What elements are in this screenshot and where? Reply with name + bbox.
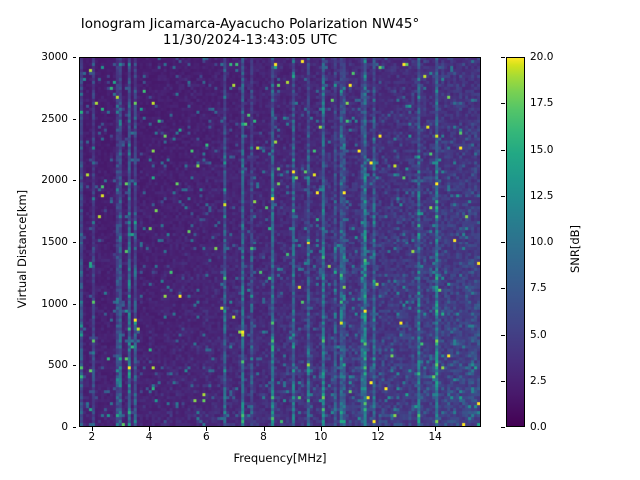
x-tick-label: 12 — [371, 431, 384, 443]
ionogram-figure: Ionogram Jicamarca-Ayacucho Polarization… — [0, 0, 640, 480]
x-tick-mark — [321, 427, 322, 431]
y-tick-label: 0 — [0, 421, 68, 433]
colorbar-tick-mark — [501, 335, 505, 336]
x-tick-label: 8 — [260, 431, 267, 443]
colorbar-tick-mark — [501, 57, 505, 58]
colorbar — [506, 57, 525, 427]
x-tick-mark — [378, 427, 379, 431]
x-tick-label: 10 — [314, 431, 327, 443]
x-tick-label: 14 — [429, 431, 442, 443]
colorbar-tick-mark — [501, 242, 505, 243]
colorbar-tick-mark — [501, 103, 505, 104]
x-tick-mark — [92, 427, 93, 431]
title-line-2: 11/30/2024-13:43:05 UTC — [163, 32, 337, 48]
x-tick-label: 2 — [89, 431, 96, 443]
colorbar-tick-label: 0.0 — [530, 421, 547, 433]
y-tick-mark — [73, 304, 77, 305]
x-axis-label: Frequency[MHz] — [79, 451, 481, 465]
y-tick-mark — [73, 57, 77, 58]
colorbar-tick-mark — [501, 150, 505, 151]
title-line-1: Ionogram Jicamarca-Ayacucho Polarization… — [81, 16, 419, 32]
x-tick-mark — [264, 427, 265, 431]
ionogram-plot-area — [79, 57, 481, 427]
y-tick-mark — [73, 242, 77, 243]
x-tick-mark — [206, 427, 207, 431]
colorbar-tick-label: 20.0 — [530, 51, 553, 63]
colorbar-tick-label: 17.5 — [530, 97, 553, 109]
y-tick-label: 3000 — [0, 51, 68, 63]
colorbar-label: SNR[dB] — [568, 174, 582, 324]
x-tick-mark — [435, 427, 436, 431]
colorbar-tick-mark — [501, 381, 505, 382]
ionogram-heatmap-canvas — [80, 58, 480, 426]
y-tick-label: 1000 — [0, 298, 68, 310]
colorbar-tick-label: 10.0 — [530, 236, 553, 248]
y-tick-label: 2000 — [0, 174, 68, 186]
y-tick-mark — [73, 119, 77, 120]
y-tick-label: 2500 — [0, 113, 68, 125]
colorbar-tick-label: 7.5 — [530, 282, 547, 294]
x-tick-label: 4 — [146, 431, 153, 443]
y-axis-label: Virtual Distance[km] — [15, 154, 29, 344]
y-tick-mark — [73, 180, 77, 181]
y-tick-label: 500 — [0, 359, 68, 371]
colorbar-tick-mark — [501, 196, 505, 197]
colorbar-tick-mark — [501, 288, 505, 289]
colorbar-tick-label: 2.5 — [530, 375, 547, 387]
figure-title: Ionogram Jicamarca-Ayacucho Polarization… — [0, 16, 500, 48]
colorbar-tick-label: 12.5 — [530, 190, 553, 202]
y-tick-mark — [73, 427, 77, 428]
y-tick-label: 1500 — [0, 236, 68, 248]
colorbar-tick-label: 15.0 — [530, 144, 553, 156]
x-tick-mark — [149, 427, 150, 431]
colorbar-tick-label: 5.0 — [530, 329, 547, 341]
x-tick-label: 6 — [203, 431, 210, 443]
colorbar-tick-mark — [501, 427, 505, 428]
y-tick-mark — [73, 365, 77, 366]
